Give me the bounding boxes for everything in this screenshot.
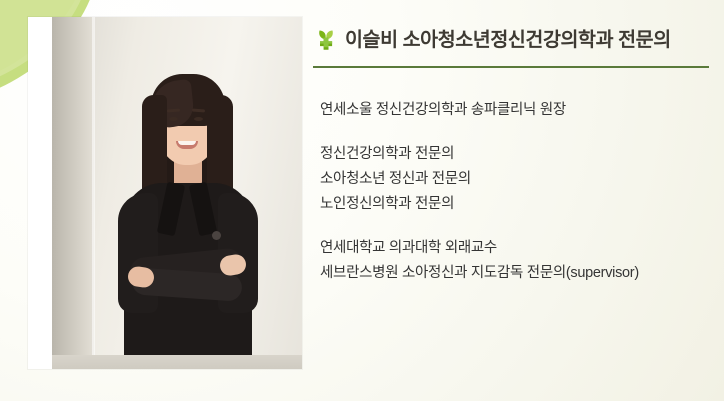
detail-line: 연세소울 정신건강의학과 송파클리닉 원장 <box>320 98 720 123</box>
title-divider <box>313 66 709 68</box>
detail-line: 연세대학교 의과대학 외래교수 <box>320 236 720 261</box>
detail-line: 세브란스병원 소아정신과 지도감독 전문의(supervisor) <box>320 261 720 286</box>
figure-button <box>212 231 221 240</box>
profile-paragraph-certifications: 정신건강의학과 전문의 소아청소년 정신과 전문의 노인정신의학과 전문의 <box>320 142 720 217</box>
title-row: 이슬비 소아청소년정신건강의학과 전문의 <box>311 22 671 52</box>
green-cross-leaf-logo-icon <box>311 24 341 54</box>
photo-floor <box>52 355 302 369</box>
content-column: 이슬비 소아청소년정신건강의학과 전문의 연세소울 정신건강의학과 송파클리닉 … <box>311 0 724 401</box>
detail-line: 소아청소년 정신과 전문의 <box>320 167 720 192</box>
figure-eye-right <box>194 117 203 121</box>
detail-line: 노인정신의학과 전문의 <box>320 192 720 217</box>
profile-paragraph-appointments: 연세대학교 의과대학 외래교수 세브란스병원 소아정신과 지도감독 전문의(su… <box>320 236 720 286</box>
figure-teeth <box>178 141 196 145</box>
figure-eye-left <box>169 117 178 121</box>
profile-details: 연세소울 정신건강의학과 송파클리닉 원장 정신건강의학과 전문의 소아청소년 … <box>320 98 720 286</box>
page-title: 이슬비 소아청소년정신건강의학과 전문의 <box>345 23 671 52</box>
detail-line: 정신건강의학과 전문의 <box>320 142 720 167</box>
profile-paragraph-position: 연세소울 정신건강의학과 송파클리닉 원장 <box>320 98 720 123</box>
profile-slide: 이슬비 소아청소년정신건강의학과 전문의 연세소울 정신건강의학과 송파클리닉 … <box>0 0 724 401</box>
profile-photo <box>52 17 302 369</box>
photo-figure <box>52 17 302 369</box>
